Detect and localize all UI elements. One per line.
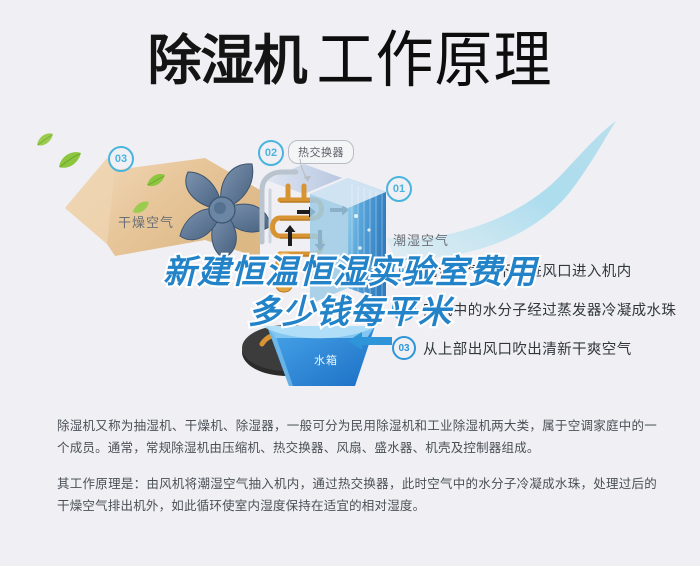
humid-air-label: 潮湿空气	[393, 230, 449, 249]
diagram-badge-03: 03	[108, 146, 134, 172]
body-copy: 除湿机又称为抽湿机、干燥机、除湿器，一般可分为民用除湿机和工业除湿机两大类，属于…	[57, 415, 657, 517]
list-item: 01 潮湿空气由下部进风口进入机内	[392, 258, 692, 282]
page-title: 除湿机 工作原理	[0, 22, 700, 100]
leaf-icon	[36, 132, 54, 148]
title-primary: 除湿机	[147, 34, 306, 88]
list-item: 03 从上部出风口吹出清新干爽空气	[392, 336, 692, 360]
step-text: 潮湿空气由下部进风口进入机内	[423, 260, 632, 281]
diagram-badge-01: 01	[386, 176, 412, 202]
leaf-icon	[58, 150, 82, 170]
page-root: 除湿机 工作原理	[0, 0, 700, 566]
diagram-badge-02: 02	[258, 140, 284, 166]
step-number: 03	[392, 336, 416, 360]
dry-air-label: 干燥空气	[118, 212, 174, 231]
paragraph-1: 除湿机又称为抽湿机、干燥机、除湿器，一般可分为民用除湿机和工业除湿机两大类，属于…	[57, 415, 657, 459]
step-number: 01	[392, 258, 416, 282]
step-text: 空气中的水分子经过蒸发器冷凝成水珠	[423, 299, 676, 320]
water-tank-label: 水箱	[314, 352, 338, 368]
list-item: 02 空气中的水分子经过蒸发器冷凝成水珠	[392, 297, 692, 321]
heat-exchanger-assembly-icon	[252, 138, 392, 328]
title-secondary: 工作原理	[316, 30, 552, 91]
step-text: 从上部出风口吹出清新干爽空气	[423, 338, 632, 359]
air-inlet-arrow-icon	[348, 332, 392, 350]
step-list: 01 潮湿空气由下部进风口进入机内 02 空气中的水分子经过蒸发器冷凝成水珠 0…	[392, 258, 692, 375]
step-number: 02	[392, 297, 416, 321]
callout-pointer-icon	[298, 159, 316, 183]
paragraph-2: 其工作原理是：由风机将潮湿空气抽入机内，通过热交换器，此时空气中的水分子冷凝成水…	[57, 473, 657, 517]
